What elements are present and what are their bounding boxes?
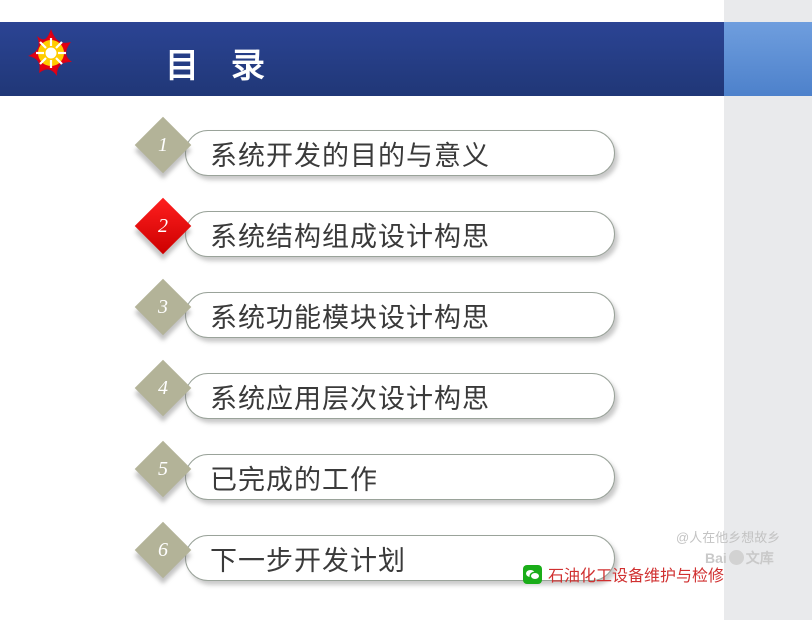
toc-list: 1 系统开发的目的与意义 2 系统结构组成设计构思 3 系统功能模块设计构思 4… <box>0 118 724 604</box>
toc-number: 2 <box>143 206 183 246</box>
cnpc-logo-icon <box>8 26 94 94</box>
toc-number: 5 <box>143 449 183 489</box>
wechat-icon <box>523 565 542 584</box>
toc-label: 系统应用层次设计构思 <box>210 377 490 416</box>
toc-number: 6 <box>143 530 183 570</box>
toc-item-1[interactable]: 1 系统开发的目的与意义 <box>0 118 724 199</box>
presentation-slide: 目 录 1 系统开发的目的与意义 2 系统结构组成设计构思 3 系统功能模块设计… <box>0 0 724 620</box>
toc-number: 3 <box>143 287 183 327</box>
wechat-account-line: 石油化工设备维护与检修网 <box>523 562 724 586</box>
user-watermark: @人在他乡想故乡 <box>676 527 780 546</box>
toc-label: 系统功能模块设计构思 <box>210 296 490 335</box>
toc-item-3[interactable]: 3 系统功能模块设计构思 <box>0 280 724 361</box>
toc-label: 下一步开发计划 <box>210 539 406 578</box>
slide-viewer: 目 录 1 系统开发的目的与意义 2 系统结构组成设计构思 3 系统功能模块设计… <box>0 0 812 620</box>
baidu-watermark-prefix: Bai <box>705 550 727 566</box>
toc-item-5[interactable]: 5 已完成的工作 <box>0 442 724 523</box>
toc-number: 4 <box>143 368 183 408</box>
toc-item-4[interactable]: 4 系统应用层次设计构思 <box>0 361 724 442</box>
toc-label: 已完成的工作 <box>210 458 378 497</box>
baidu-watermark-suffix: 文库 <box>746 550 774 566</box>
page-title: 目 录 <box>165 38 275 87</box>
toc-label: 系统开发的目的与意义 <box>210 134 490 173</box>
slide-header-band-right <box>724 22 812 96</box>
toc-label: 系统结构组成设计构思 <box>210 215 490 254</box>
wechat-account-name: 石油化工设备维护与检修网 <box>548 562 724 586</box>
baidu-wenku-watermark: Bai文库 <box>705 548 774 568</box>
toc-number: 1 <box>143 125 183 165</box>
slide-header-band <box>0 22 724 96</box>
baidu-logo-icon <box>729 550 744 565</box>
toc-item-2[interactable]: 2 系统结构组成设计构思 <box>0 199 724 280</box>
